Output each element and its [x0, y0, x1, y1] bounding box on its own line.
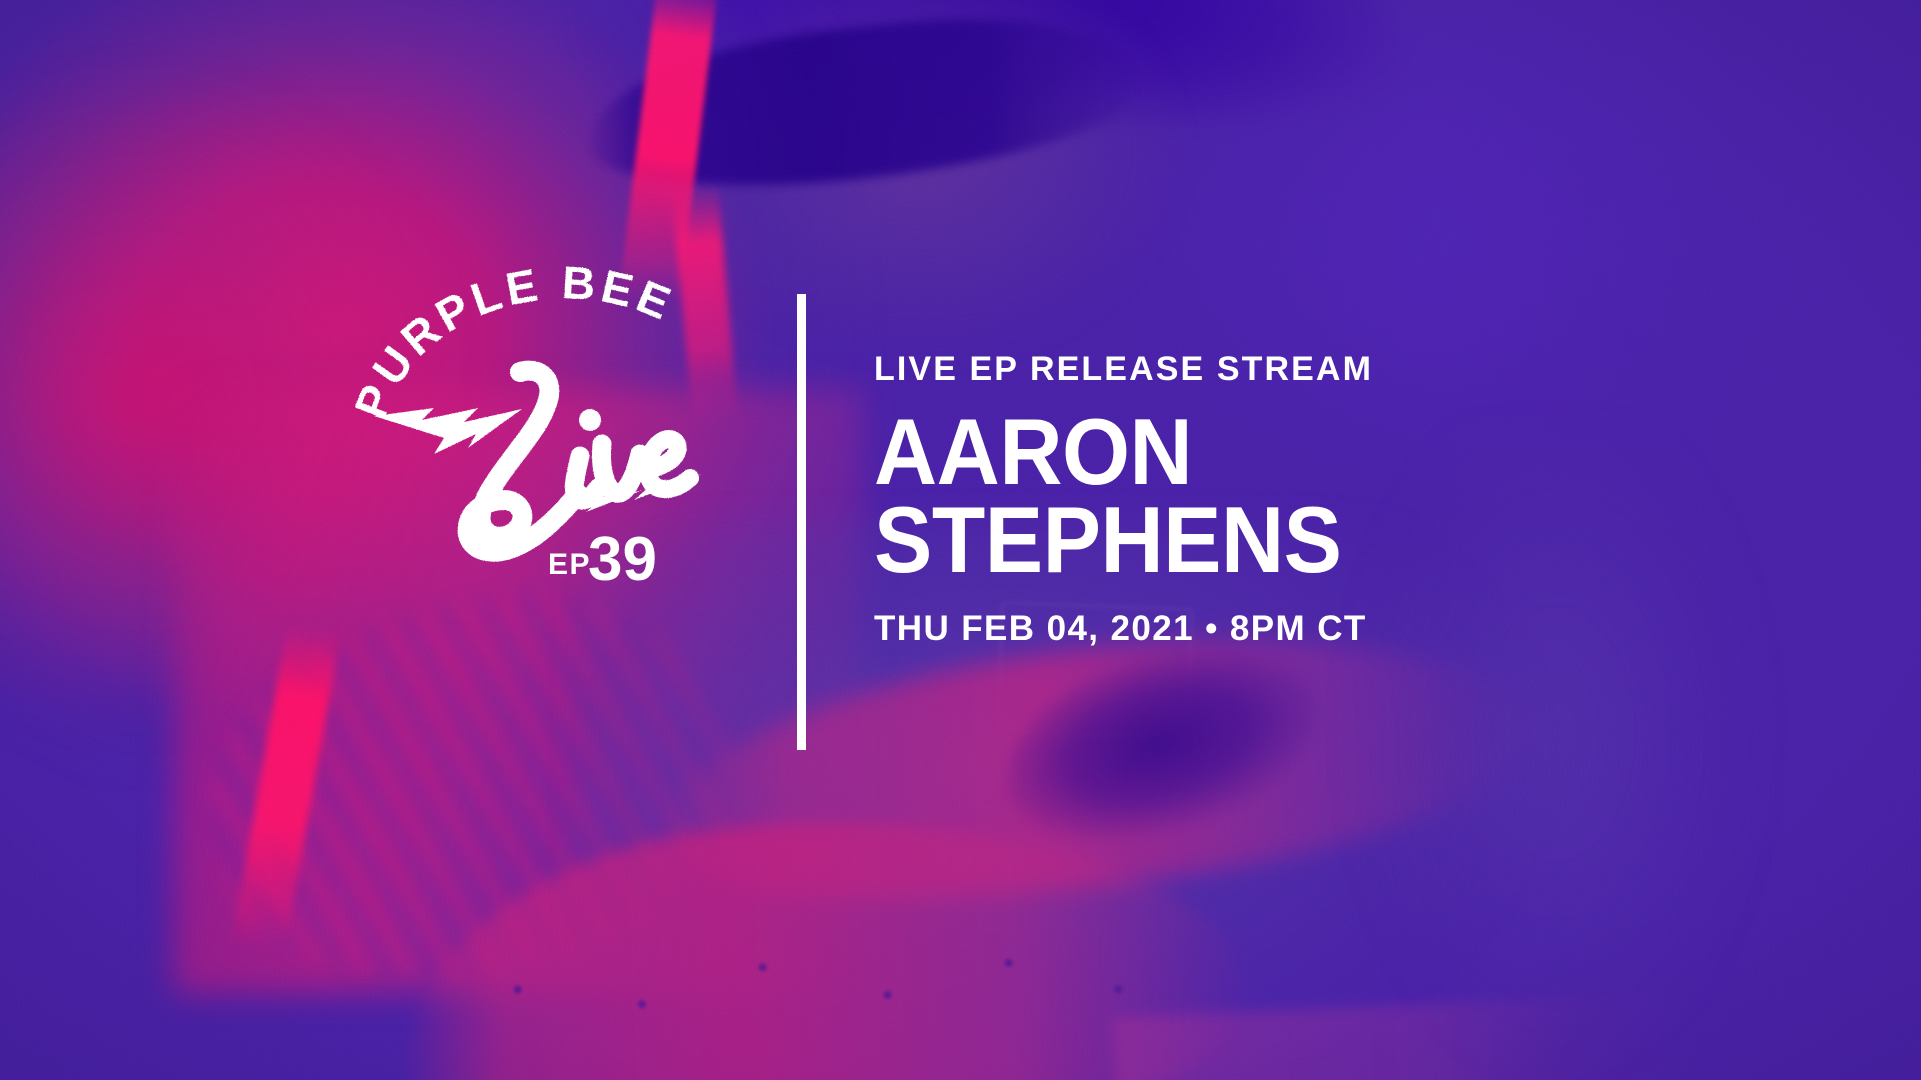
logo-episode-number: 39 — [588, 525, 657, 594]
logo-script-e — [640, 439, 690, 489]
purple-bee-live-logo: PURPLE BEE EP 39 — [372, 288, 744, 608]
logo-script-L — [468, 371, 578, 552]
logo-svg: PURPLE BEE EP 39 — [372, 288, 744, 608]
artist-name: AARON STEPHENS — [874, 408, 1341, 585]
artist-name-line-1: AARON — [874, 408, 1341, 496]
vertical-divider — [797, 294, 806, 750]
logo-episode-prefix: EP — [548, 548, 591, 581]
event-datetime: THU FEB 04, 2021 • 8PM CT — [874, 611, 1377, 646]
event-poster: PURPLE BEE EP 39 — [0, 0, 1921, 1080]
logo-script-i-dot — [579, 409, 601, 431]
artist-name-line-2: STEPHENS — [874, 496, 1341, 584]
lightning-bolt-left-icon — [374, 408, 522, 454]
event-details: LIVE EP RELEASE STREAM AARON STEPHENS TH… — [874, 352, 1377, 646]
event-kicker: LIVE EP RELEASE STREAM — [874, 352, 1377, 386]
